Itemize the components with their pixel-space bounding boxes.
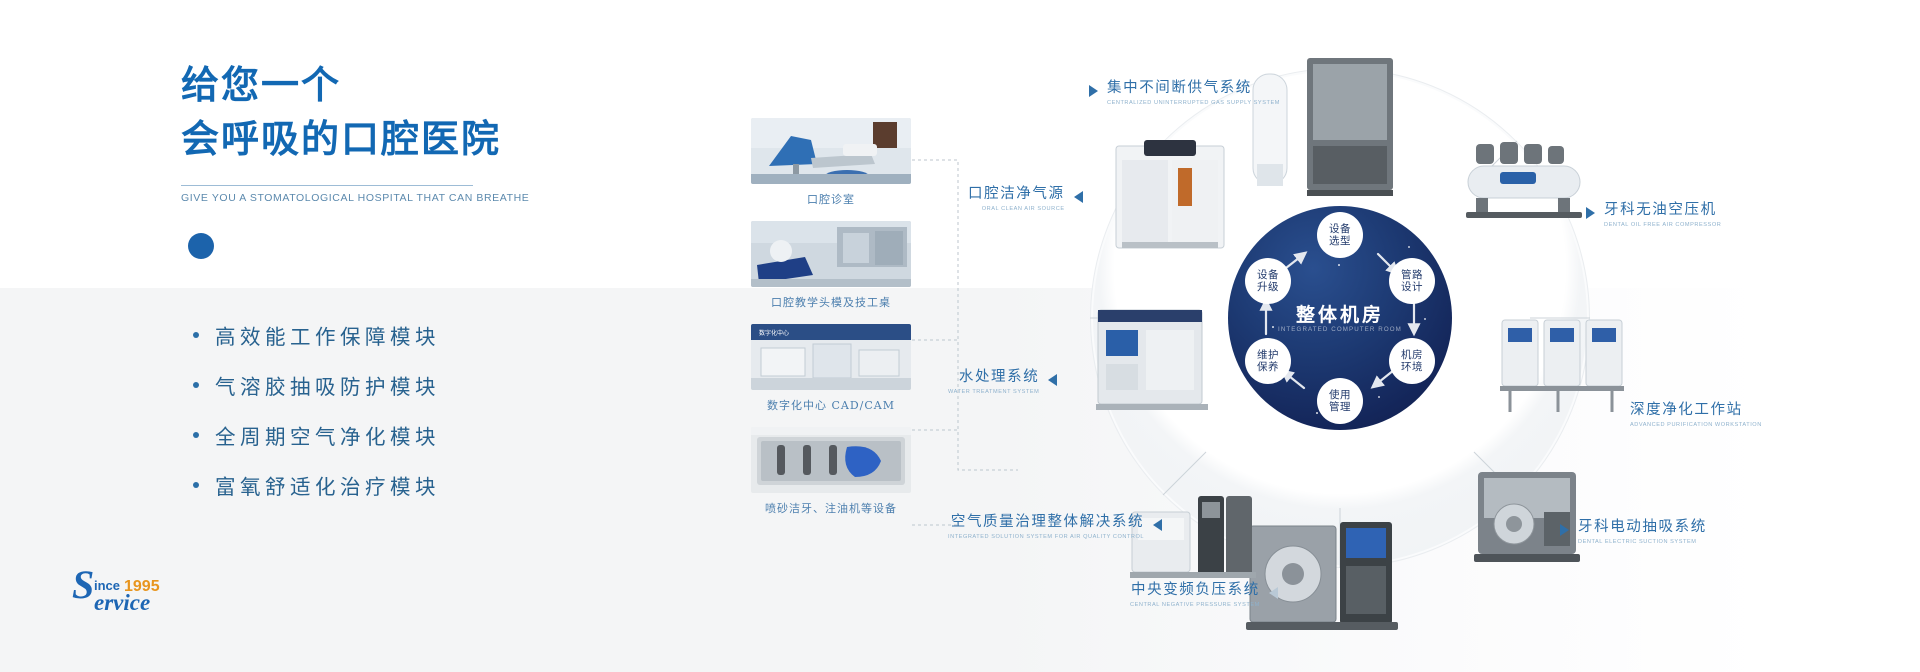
thumbnail-caption: 喷砂洁牙、注油机等设备 [751, 500, 911, 516]
cycle-node-equipment-selection[interactable]: 设备 选型 [1317, 212, 1363, 258]
arrow-left-icon [1269, 587, 1278, 599]
cycle-node-room-environment[interactable]: 机房 环境 [1389, 338, 1435, 384]
callout-title: 牙科无油空压机 [1604, 198, 1721, 219]
callout-subtitle: INTEGRATED SOLUTION SYSTEM FOR AIR QUALI… [948, 534, 1144, 540]
decorative-dot-icon [188, 233, 214, 259]
node-line-2: 保养 [1257, 361, 1279, 373]
callout-subtitle: DENTAL OIL FREE AIR COMPRESSOR [1604, 222, 1721, 228]
bullet-dot-icon [193, 482, 199, 488]
list-item: 高效能工作保障模块 [193, 310, 573, 360]
callout-central-negative-pressure[interactable]: 中央变频负压系统 CENTRAL NEGATIVE PRESSURE SYSTE… [1130, 578, 1278, 608]
dental-teaching-manikin-photo [751, 221, 911, 287]
node-line-2: 选型 [1329, 235, 1351, 247]
cycle-node-equipment-upgrade[interactable]: 设备 升级 [1245, 258, 1291, 304]
dental-clinic-chair-photo [751, 118, 911, 184]
callout-advanced-purification-workstation[interactable]: 深度净化工作站 ADVANCED PURIFICATION WORKSTATIO… [1630, 398, 1762, 428]
callout-title: 中央变频负压系统 [1130, 578, 1260, 599]
arrow-left-icon [1048, 374, 1057, 386]
callout-title: 牙科电动抽吸系统 [1578, 515, 1707, 536]
module-list: 高效能工作保障模块 气溶胶抽吸防护模块 全周期空气净化模块 富氧舒适化治疗模块 [193, 310, 573, 510]
arrow-right-icon [1586, 207, 1595, 219]
arrow-right-icon [1560, 524, 1569, 536]
callout-oral-clean-air-source[interactable]: 口腔洁净气源 ORAL CLEAN AIR SOURCE [968, 182, 1083, 212]
headline-line-1: 给您一个 [181, 60, 501, 114]
air-compressor [1462, 138, 1592, 233]
callout-subtitle: ADVANCED PURIFICATION WORKSTATION [1630, 422, 1762, 428]
photo-thumbnail-column: 口腔诊室 口腔教学头模及技工桌 [751, 118, 911, 530]
thumbnail-card[interactable]: 口腔诊室 [751, 118, 911, 207]
callout-title: 集中不间断供气系统 [1107, 76, 1280, 97]
list-item-label: 全周期空气净化模块 [215, 420, 440, 450]
thumbnail-card[interactable]: 数字化中心 数字化中心 CAD/CAM [751, 324, 911, 413]
list-item: 富氧舒适化治疗模块 [193, 460, 573, 510]
list-item: 气溶胶抽吸防护模块 [193, 360, 573, 410]
clean-air-source-cabinet [1108, 138, 1232, 263]
callout-title: 空气质量治理整体解决系统 [948, 510, 1144, 531]
digital-center-cadcam-photo: 数字化中心 [751, 324, 911, 390]
callout-title: 深度净化工作站 [1630, 398, 1762, 419]
thumbnail-caption: 口腔诊室 [751, 191, 911, 207]
svg-text:数字化中心: 数字化中心 [759, 329, 789, 337]
callout-dental-oil-free-compressor[interactable]: 牙科无油空压机 DENTAL OIL FREE AIR COMPRESSOR [1586, 198, 1721, 228]
node-line-1: 使用 [1329, 389, 1351, 401]
callout-subtitle: CENTRALIZED UNINTERRUPTED GAS SUPPLY SYS… [1107, 100, 1280, 106]
core-subtitle: INTEGRATED COMPUTER ROOM [1228, 326, 1452, 333]
callout-centralized-gas-supply[interactable]: 集中不间断供气系统 CENTRALIZED UNINTERRUPTED GAS … [1089, 76, 1280, 106]
bullet-dot-icon [193, 332, 199, 338]
core-title: 整体机房 [1228, 300, 1452, 327]
callout-title: 水处理系统 [948, 365, 1039, 386]
thumbnail-card[interactable]: 喷砂洁牙、注油机等设备 [751, 427, 911, 516]
brand-logo: S ince 1995 ervice [72, 568, 192, 616]
thumbnail-card[interactable]: 口腔教学头模及技工桌 [751, 221, 911, 310]
cycle-node-maintenance[interactable]: 维护 保养 [1245, 338, 1291, 384]
node-line-2: 管理 [1329, 401, 1351, 413]
node-line-2: 升级 [1257, 281, 1279, 293]
bullet-dot-icon [193, 382, 199, 388]
callout-dental-electric-suction[interactable]: 牙科电动抽吸系统 DENTAL ELECTRIC SUCTION SYSTEM [1560, 515, 1707, 545]
node-line-1: 设备 [1257, 269, 1279, 281]
cycle-node-pipeline-design[interactable]: 管路 设计 [1389, 258, 1435, 304]
node-line-2: 环境 [1401, 361, 1423, 373]
node-line-1: 管路 [1401, 269, 1423, 281]
water-treatment-cabinet [1092, 300, 1212, 421]
purification-workstation [1498, 312, 1630, 427]
bullet-dot-icon [193, 432, 199, 438]
node-line-1: 维护 [1257, 349, 1279, 361]
list-item-label: 气溶胶抽吸防护模块 [215, 370, 440, 400]
callout-subtitle: ORAL CLEAN AIR SOURCE [968, 206, 1065, 212]
callout-water-treatment-system[interactable]: 水处理系统 WATER TREATMENT SYSTEM [948, 365, 1057, 395]
poster-canvas: 给您一个 会呼吸的口腔医院 GIVE YOU A STOMATOLOGICAL … [0, 0, 1920, 672]
headline-divider [181, 185, 473, 186]
node-line-2: 设计 [1401, 281, 1423, 293]
thumbnail-caption: 数字化中心 CAD/CAM [751, 397, 911, 413]
arrow-left-icon [1074, 191, 1083, 203]
arrow-right-icon [1089, 85, 1098, 97]
callout-subtitle: CENTRAL NEGATIVE PRESSURE SYSTEM [1130, 602, 1260, 608]
page-title: 给您一个 会呼吸的口腔医院 [181, 60, 501, 168]
headline-subtitle: GIVE YOU A STOMATOLOGICAL HOSPITAL THAT … [181, 192, 529, 204]
callout-subtitle: WATER TREATMENT SYSTEM [948, 389, 1039, 395]
callout-air-quality-control-system[interactable]: 空气质量治理整体解决系统 INTEGRATED SOLUTION SYSTEM … [948, 510, 1162, 540]
node-line-1: 机房 [1401, 349, 1423, 361]
list-item: 全周期空气净化模块 [193, 410, 573, 460]
cycle-node-usage-management[interactable]: 使用 管理 [1317, 378, 1363, 424]
sandblasting-scaling-lubricator-photo [751, 427, 911, 493]
core-circle: 整体机房 INTEGRATED COMPUTER ROOM 设备 选型 管路 设… [1228, 206, 1452, 430]
list-item-label: 富氧舒适化治疗模块 [215, 470, 440, 500]
arrow-left-icon [1153, 519, 1162, 531]
headline-line-2: 会呼吸的口腔医院 [181, 114, 501, 168]
logo-service-text: ervice [94, 590, 150, 615]
svg-text:S: S [72, 568, 94, 607]
list-item-label: 高效能工作保障模块 [215, 320, 440, 350]
thumbnail-caption: 口腔教学头模及技工桌 [751, 294, 911, 310]
callout-title: 口腔洁净气源 [968, 182, 1065, 203]
callout-subtitle: DENTAL ELECTRIC SUCTION SYSTEM [1578, 539, 1707, 545]
node-line-1: 设备 [1329, 223, 1351, 235]
